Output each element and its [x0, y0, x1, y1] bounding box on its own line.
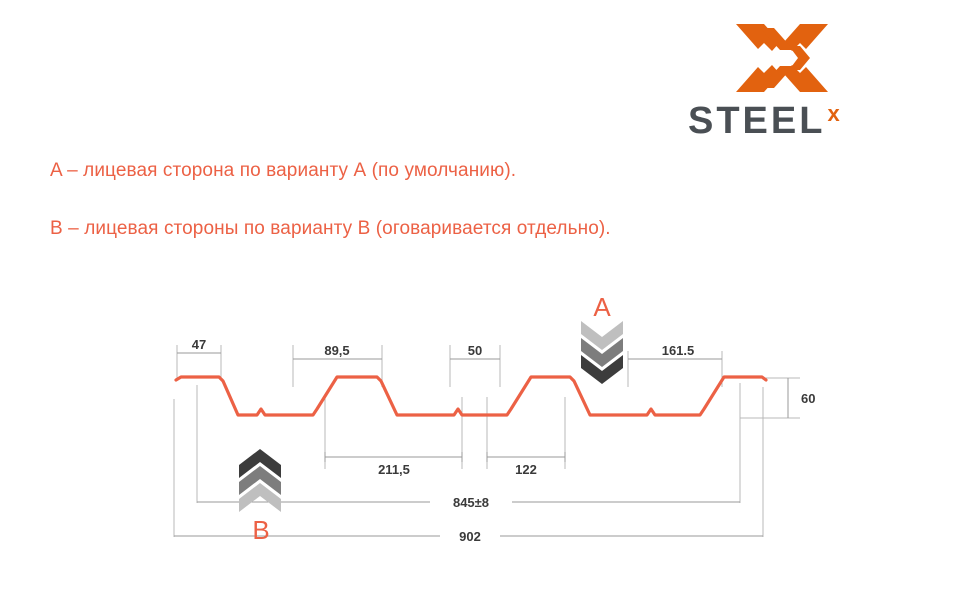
logo-x-superscript: x [827, 103, 839, 125]
marker-a-letter: A [593, 292, 611, 322]
caption-variant-a: A – лицевая сторона по варианту А (по ум… [50, 160, 516, 182]
dim-label-161-5: 161.5 [662, 343, 695, 358]
sheet-profile-path [176, 377, 766, 415]
dim-label-211-5: 211,5 [378, 462, 410, 477]
dim-label-845: 845±8 [453, 495, 489, 510]
caption-variant-b: B – лицевая стороны по варианту B (огова… [50, 218, 611, 240]
dim-label-89-5: 89,5 [324, 343, 349, 358]
dim-label-60: 60 [801, 391, 815, 406]
logo-steel-text: STEEL [688, 102, 825, 140]
marker-b-letter: B [252, 515, 269, 545]
dim-label-50: 50 [468, 343, 482, 358]
profile-drawing: 47 89,5 50 161.5 211,5 122 845±8 902 60 … [0, 275, 970, 565]
marker-b: B [239, 449, 281, 545]
steelx-logo: STEEL x [688, 18, 878, 143]
steelx-wordmark: STEEL x [688, 102, 878, 142]
steelx-x-mark-icon [734, 18, 830, 98]
dim-label-122: 122 [515, 462, 537, 477]
marker-a-chevrons [581, 321, 623, 384]
marker-b-chevrons [239, 449, 281, 512]
technical-drawing-page: STEEL x A – лицевая сторона по варианту … [0, 0, 970, 597]
dim-label-47: 47 [192, 337, 206, 352]
marker-a: A [581, 292, 623, 384]
dim-label-902: 902 [459, 529, 481, 544]
